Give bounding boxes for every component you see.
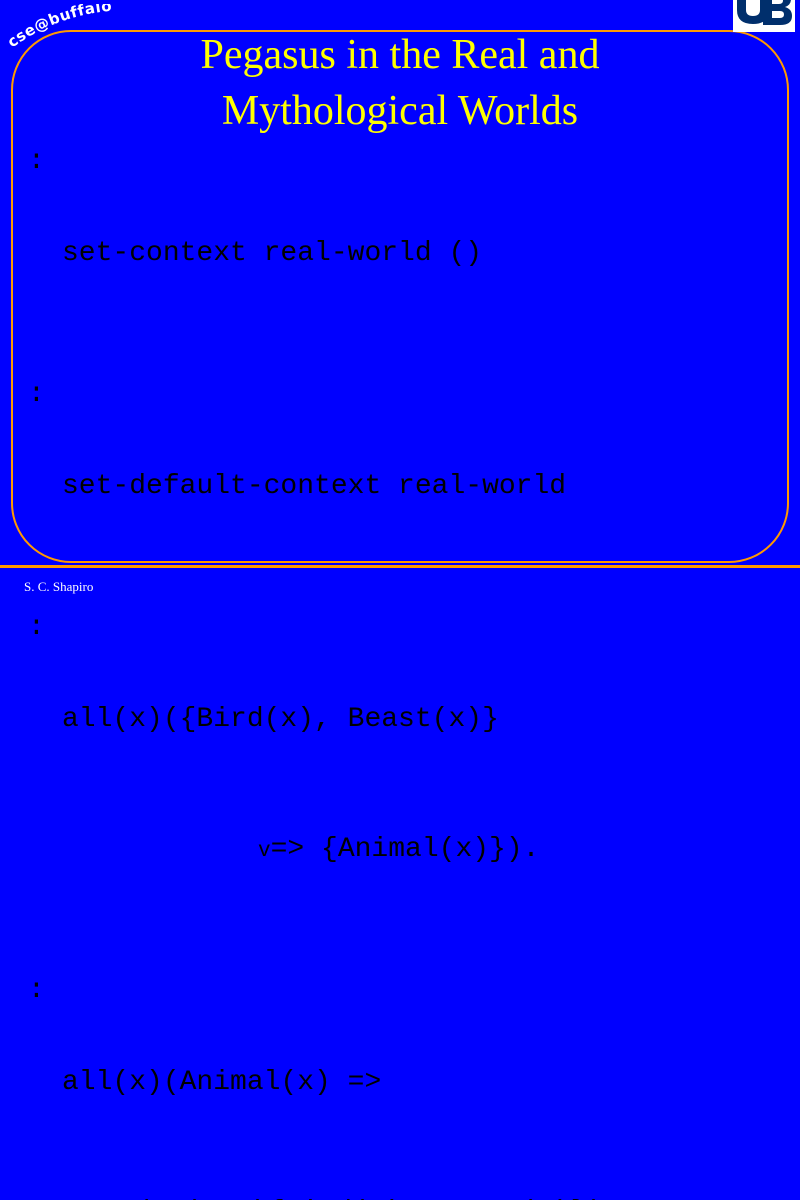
bullet-marker: : <box>28 378 62 411</box>
code-line: all(x)(Animal(x) => <box>62 1061 788 1104</box>
list-item: : set-default-context real-world <box>28 378 788 595</box>
title-line-2: Mythological Worlds <box>110 84 690 140</box>
or-subscript-label: v <box>258 840 271 863</box>
bullet-list: : set-context real-world () : set-defaul… <box>28 145 788 1200</box>
code-line: all(x)({Bird(x), Beast(x)} <box>62 698 788 741</box>
bullet-marker: : <box>28 145 62 178</box>
list-item: : set-context real-world () <box>28 145 788 362</box>
title-line-1: Pegasus in the Real and <box>110 28 690 84</box>
bullet-marker: : <box>28 611 62 644</box>
code-line-continuation: andor(1,1){Bird(x), Beast(x)}). <box>62 1191 788 1200</box>
bullet-marker: : <box>28 974 62 1007</box>
code-line-continuation-text: => {Animal(x)}). <box>271 834 540 865</box>
cse-buffalo-label: cse@buffalo <box>6 4 113 51</box>
list-item-text: set-context real-world () <box>62 145 788 362</box>
slide-canvas: cse@buffalo Pegasus in the Real and Myth… <box>0 0 800 600</box>
list-item-text: set-default-context real-world <box>62 378 788 595</box>
author-label: S. C. Shapiro <box>24 579 93 595</box>
code-line: set-default-context real-world <box>62 465 788 508</box>
list-item-text: all(x)({Bird(x), Beast(x)} v=> {Animal(x… <box>62 611 788 958</box>
page-title: Pegasus in the Real and Mythological Wor… <box>110 28 690 140</box>
ub-letters-glyph <box>737 0 792 25</box>
ub-logo <box>733 0 795 32</box>
list-item: : all(x)(Animal(x) => andor(1,1){Bird(x)… <box>28 974 788 1200</box>
list-item-text: all(x)(Animal(x) => andor(1,1){Bird(x), … <box>62 974 788 1200</box>
code-line: set-context real-world () <box>62 232 788 275</box>
code-line-continuation: v=> {Animal(x)}). <box>62 828 788 871</box>
list-item: : all(x)({Bird(x), Beast(x)} v=> {Animal… <box>28 611 788 958</box>
